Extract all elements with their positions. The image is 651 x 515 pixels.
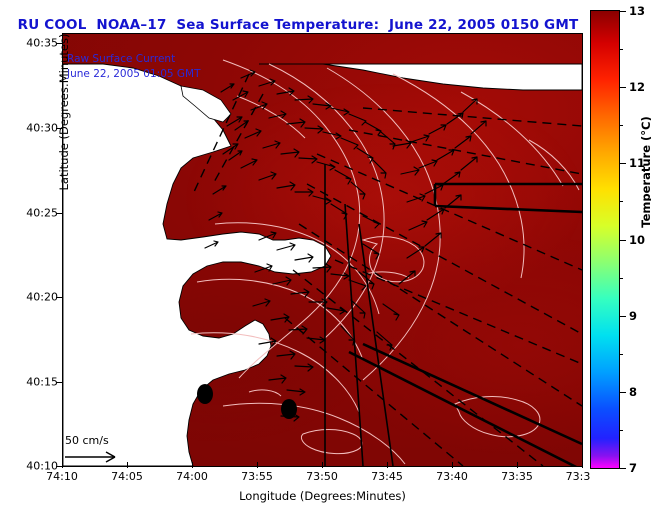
y-axis-label: Latitude (Degrees:Minutes) <box>57 0 71 242</box>
colorbar-minor-tick <box>620 49 623 50</box>
radar-station-marker <box>197 384 213 404</box>
colorbar-tick-label: 9 <box>629 309 637 323</box>
current-annotation: Raw Surface Current June 22, 2005 01:05 … <box>67 52 201 82</box>
x-tick <box>127 462 128 468</box>
x-tick-label: 73:55 <box>241 470 273 483</box>
x-tick <box>517 462 518 468</box>
colorbar-minor-tick <box>620 125 623 126</box>
vector-scale-label: 50 cm/s <box>63 434 169 447</box>
y-tick-label: 40:30 <box>26 122 58 135</box>
radar-station-marker <box>281 399 297 419</box>
x-tick-label: 73:40 <box>436 470 468 483</box>
y-tick-label: 40:25 <box>26 207 58 220</box>
colorbar-minor-tick <box>620 201 623 202</box>
colorbar-tick-label: 7 <box>629 461 637 475</box>
colorbar-tick <box>620 316 626 317</box>
x-tick <box>322 462 323 468</box>
x-tick-label: 74:00 <box>176 470 208 483</box>
colorbar-tick <box>620 11 626 12</box>
colorbar-tick <box>620 87 626 88</box>
colorbar-title: Temperature (°C) <box>639 92 651 252</box>
y-tick-label: 40:35 <box>26 37 58 50</box>
annotation-line-1: Raw Surface Current <box>67 52 201 67</box>
temperature-colorbar[interactable] <box>590 10 620 469</box>
colorbar-tick <box>620 468 626 469</box>
x-tick-label: 73:45 <box>371 470 403 483</box>
y-tick-label: 40:15 <box>26 376 58 389</box>
sst-map-figure: RU COOL NOAA–17 Sea Surface Temperature:… <box>0 0 651 515</box>
x-tick <box>192 462 193 468</box>
colorbar-minor-tick <box>620 430 623 431</box>
colorbar-tick-label: 13 <box>629 4 645 18</box>
x-tick <box>582 462 583 468</box>
x-tick <box>452 462 453 468</box>
colorbar-tick <box>620 392 626 393</box>
x-axis-label: Longitude (Degrees:Minutes) <box>62 489 583 503</box>
colorbar-tick <box>620 240 626 241</box>
x-tick-label: 73:35 <box>501 470 533 483</box>
vector-scale-key: 50 cm/s <box>63 434 169 466</box>
radar-station-marker-layer <box>63 34 582 466</box>
colorbar-minor-tick <box>620 354 623 355</box>
map-plot-area[interactable]: Raw Surface Current June 22, 2005 01:05 … <box>62 33 583 467</box>
x-tick <box>257 462 258 468</box>
figure-title: RU COOL NOAA–17 Sea Surface Temperature:… <box>0 17 596 33</box>
x-tick-label: 73:3 <box>566 470 591 483</box>
x-tick <box>387 462 388 468</box>
colorbar-tick <box>620 163 626 164</box>
x-tick-label: 74:05 <box>111 470 143 483</box>
x-tick <box>62 462 63 468</box>
x-tick-label: 73:50 <box>306 470 338 483</box>
colorbar-tick-label: 8 <box>629 385 637 399</box>
annotation-line-2: June 22, 2005 01:05 GMT <box>67 67 201 82</box>
colorbar-minor-tick <box>620 278 623 279</box>
y-tick-label: 40:20 <box>26 291 58 304</box>
vector-scale-arrow-icon <box>63 447 169 466</box>
y-tick-label: 40:10 <box>26 460 58 473</box>
